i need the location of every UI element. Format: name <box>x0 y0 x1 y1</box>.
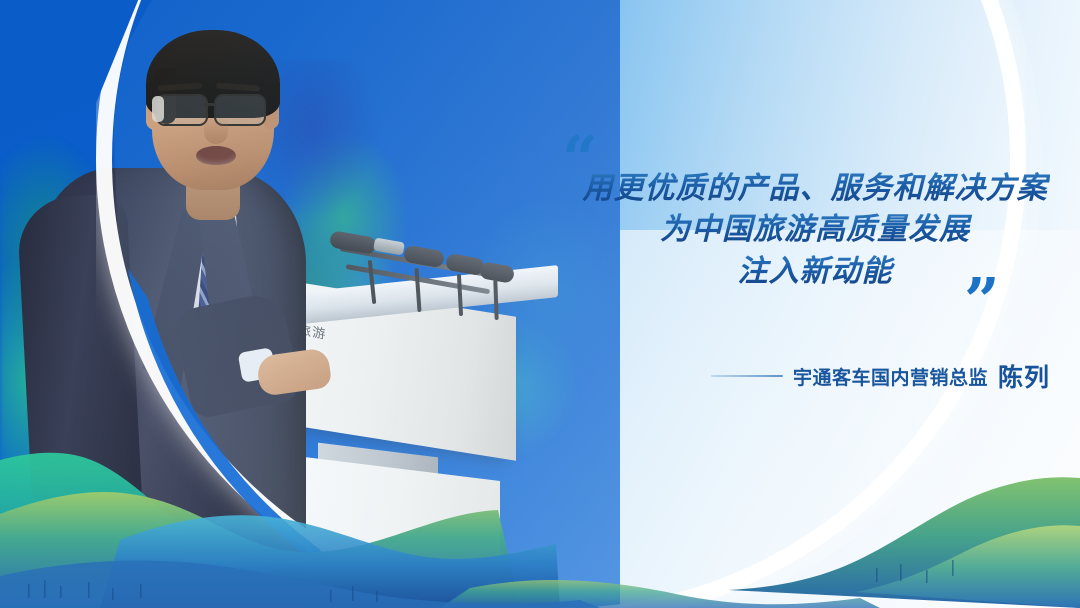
quote-card: 2024中国旅游 中国 <box>0 0 1080 608</box>
quote-line-2: 为中国旅游高质量发展 <box>580 209 1050 250</box>
quote-close-mark-icon: ” <box>964 270 1000 332</box>
quote-line-1: 用更优质的产品、服务和解决方案 <box>580 168 1050 209</box>
attribution: 宇通客车国内营销总监 陈列 <box>540 358 1050 394</box>
attribution-rule <box>711 375 783 377</box>
quote-panel: “ 用更优质的产品、服务和解决方案 为中国旅游高质量发展 注入新动能 ” 宇通客… <box>540 120 1080 420</box>
mountain-landscape <box>0 448 1080 608</box>
attribution-role: 宇通客车国内营销总监 <box>793 363 988 390</box>
attribution-name: 陈列 <box>998 358 1050 394</box>
mountain-svg <box>0 448 1080 608</box>
